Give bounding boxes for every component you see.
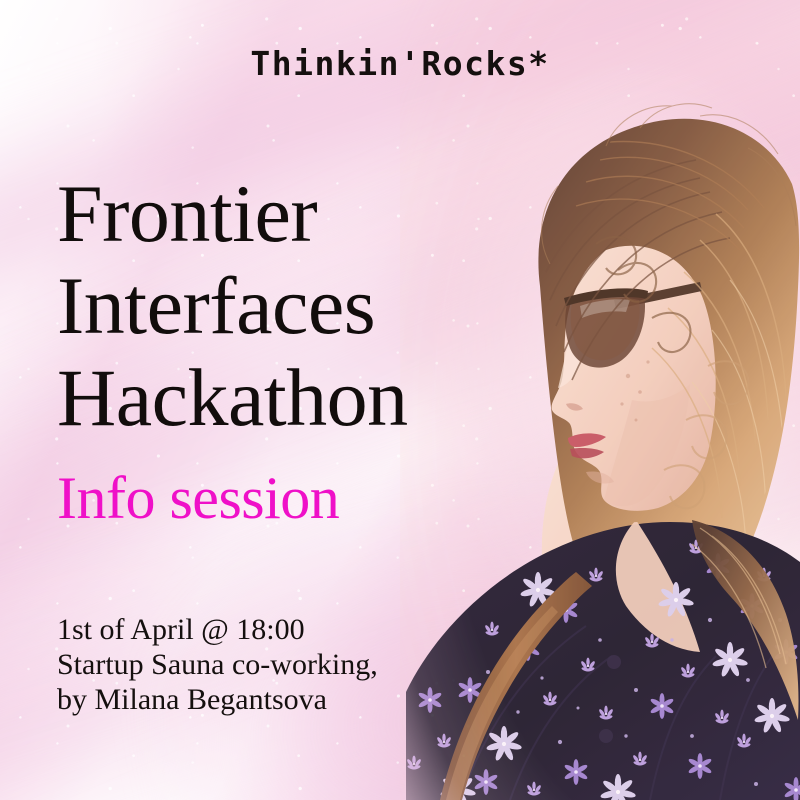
headline-line-3: Hackathon <box>57 352 408 444</box>
event-details: 1st of April @ 18:00 Startup Sauna co-wo… <box>57 612 378 717</box>
headline-line-2: Interfaces <box>57 260 408 352</box>
speaker-photo-illustration <box>400 0 800 800</box>
poster-canvas: Thinkin'Rocks* Frontier Interfaces Hacka… <box>0 0 800 800</box>
event-venue: Startup Sauna co-working, <box>57 647 378 682</box>
event-speaker: by Milana Begantsova <box>57 682 378 717</box>
speaker-photo <box>400 0 800 800</box>
event-datetime: 1st of April @ 18:00 <box>57 612 378 647</box>
brand-logo[interactable]: Thinkin'Rocks* <box>0 44 800 83</box>
headline-line-1: Frontier <box>57 168 408 260</box>
page-title: Frontier Interfaces Hackathon <box>57 168 408 444</box>
event-subtitle: Info session <box>57 466 339 530</box>
